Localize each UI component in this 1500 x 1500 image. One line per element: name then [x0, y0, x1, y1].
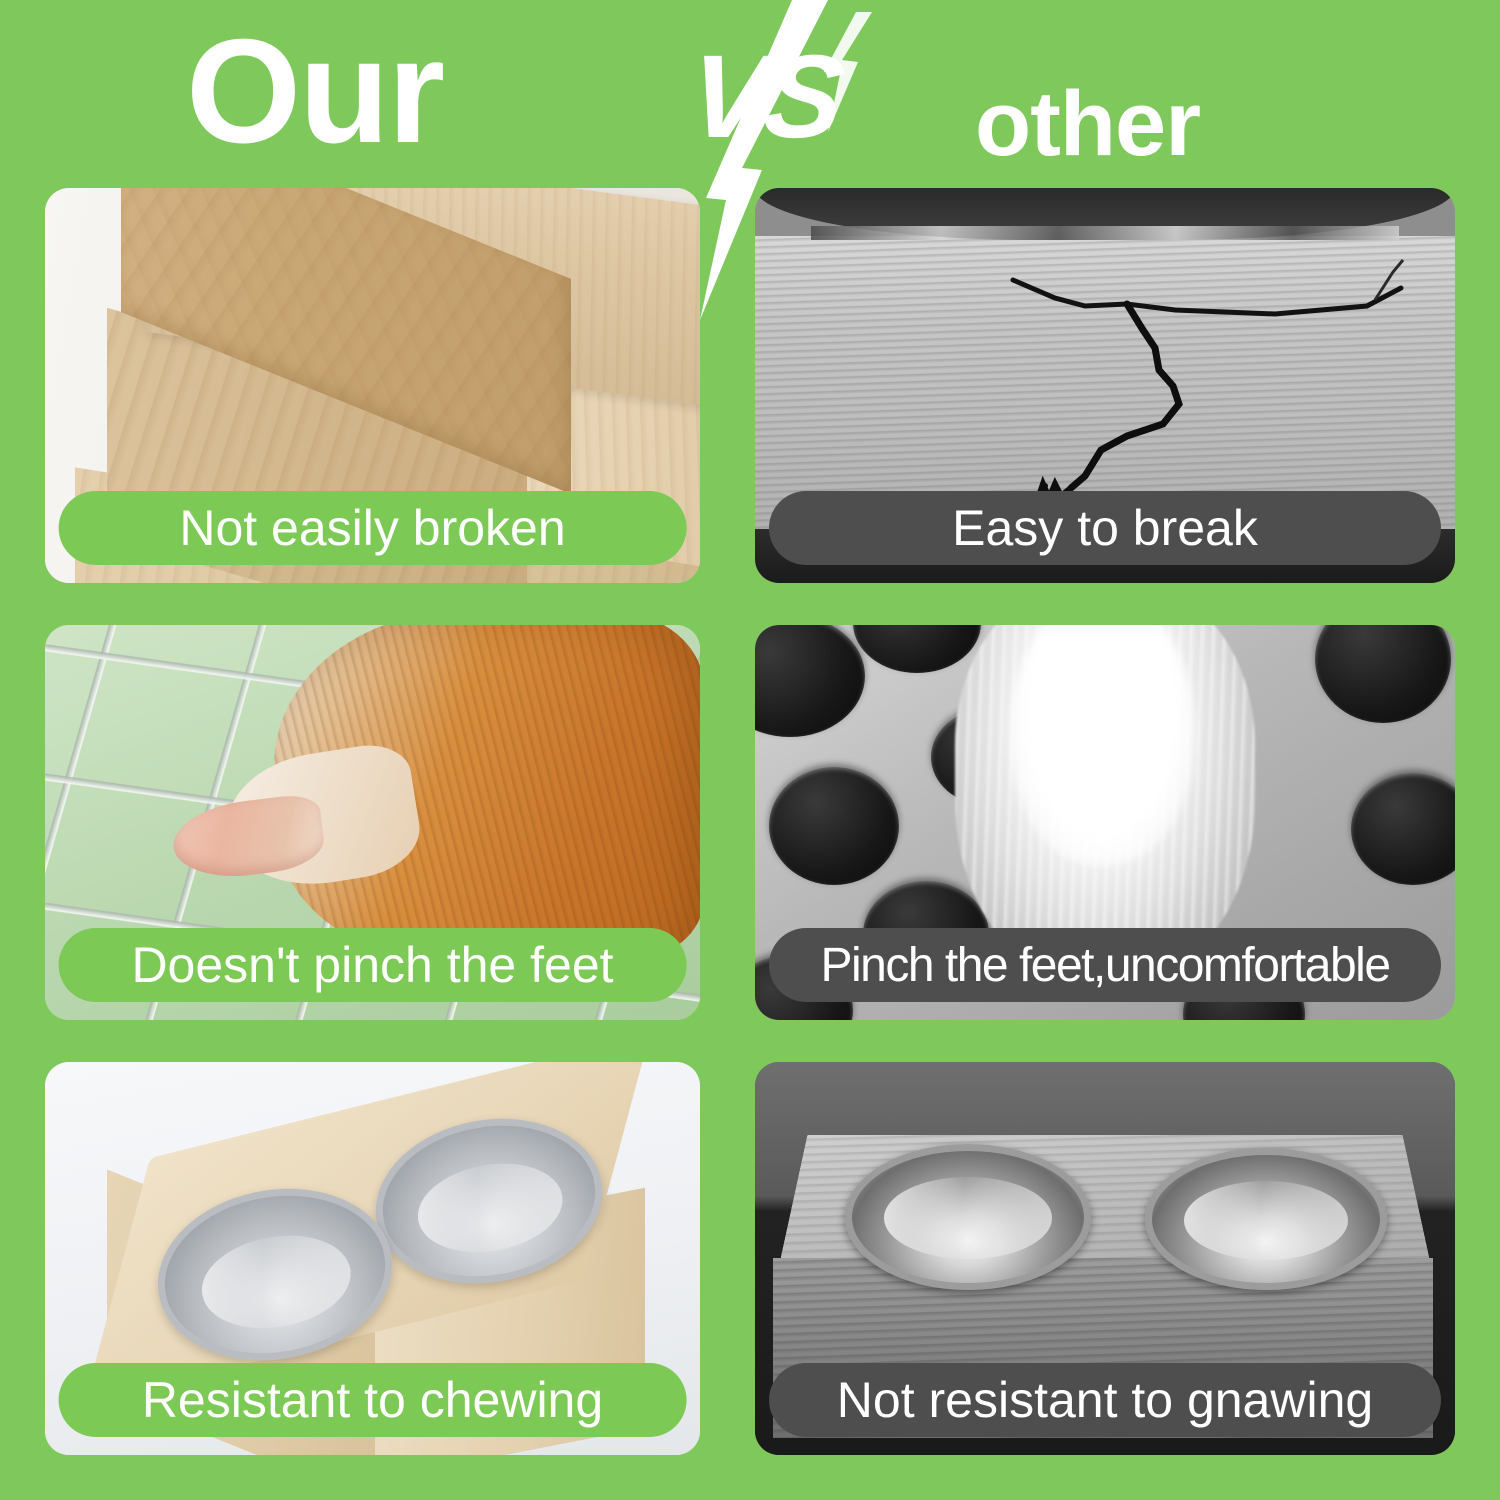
panel-other-easy-break[interactable]: Easy to break — [755, 188, 1455, 583]
steel-bowl-left — [845, 1144, 1091, 1290]
panel-ours-chew-resistant[interactable]: Resistant to chewing — [45, 1062, 700, 1455]
panel-other-pinch-feet[interactable]: Pinch the feet,uncomfortable — [755, 625, 1455, 1020]
plate-hole — [769, 767, 899, 885]
label-pinch-feet-uncomfortable: Pinch the feet,uncomfortable — [769, 928, 1441, 1002]
label-easy-to-break: Easy to break — [769, 491, 1441, 565]
label-resistant-to-chewing: Resistant to chewing — [58, 1363, 687, 1437]
paw-highlight — [1010, 625, 1195, 865]
panel-ours-no-pinch[interactable]: Doesn't pinch the feet — [45, 625, 700, 1020]
header-vs-label: VS — [684, 38, 846, 156]
header-other-label: other — [975, 78, 1200, 170]
panel-other-not-gnaw-resistant[interactable]: Not resistant to gnawing — [755, 1062, 1455, 1455]
header: Our VS other — [0, 0, 1500, 188]
comparison-infographic: Our VS other Not easily broken — [0, 0, 1500, 1500]
header-our-label: Our — [186, 18, 443, 166]
comparison-grid: Not easily broken Easy to break Doesn't … — [45, 188, 1455, 1455]
panel-ours-not-broken[interactable]: Not easily broken — [45, 188, 700, 583]
label-not-easily-broken: Not easily broken — [58, 491, 687, 565]
label-doesnt-pinch-feet: Doesn't pinch the feet — [58, 928, 687, 1002]
label-not-resistant-to-gnawing: Not resistant to gnawing — [769, 1363, 1441, 1437]
steel-bowl-right — [1145, 1148, 1387, 1290]
